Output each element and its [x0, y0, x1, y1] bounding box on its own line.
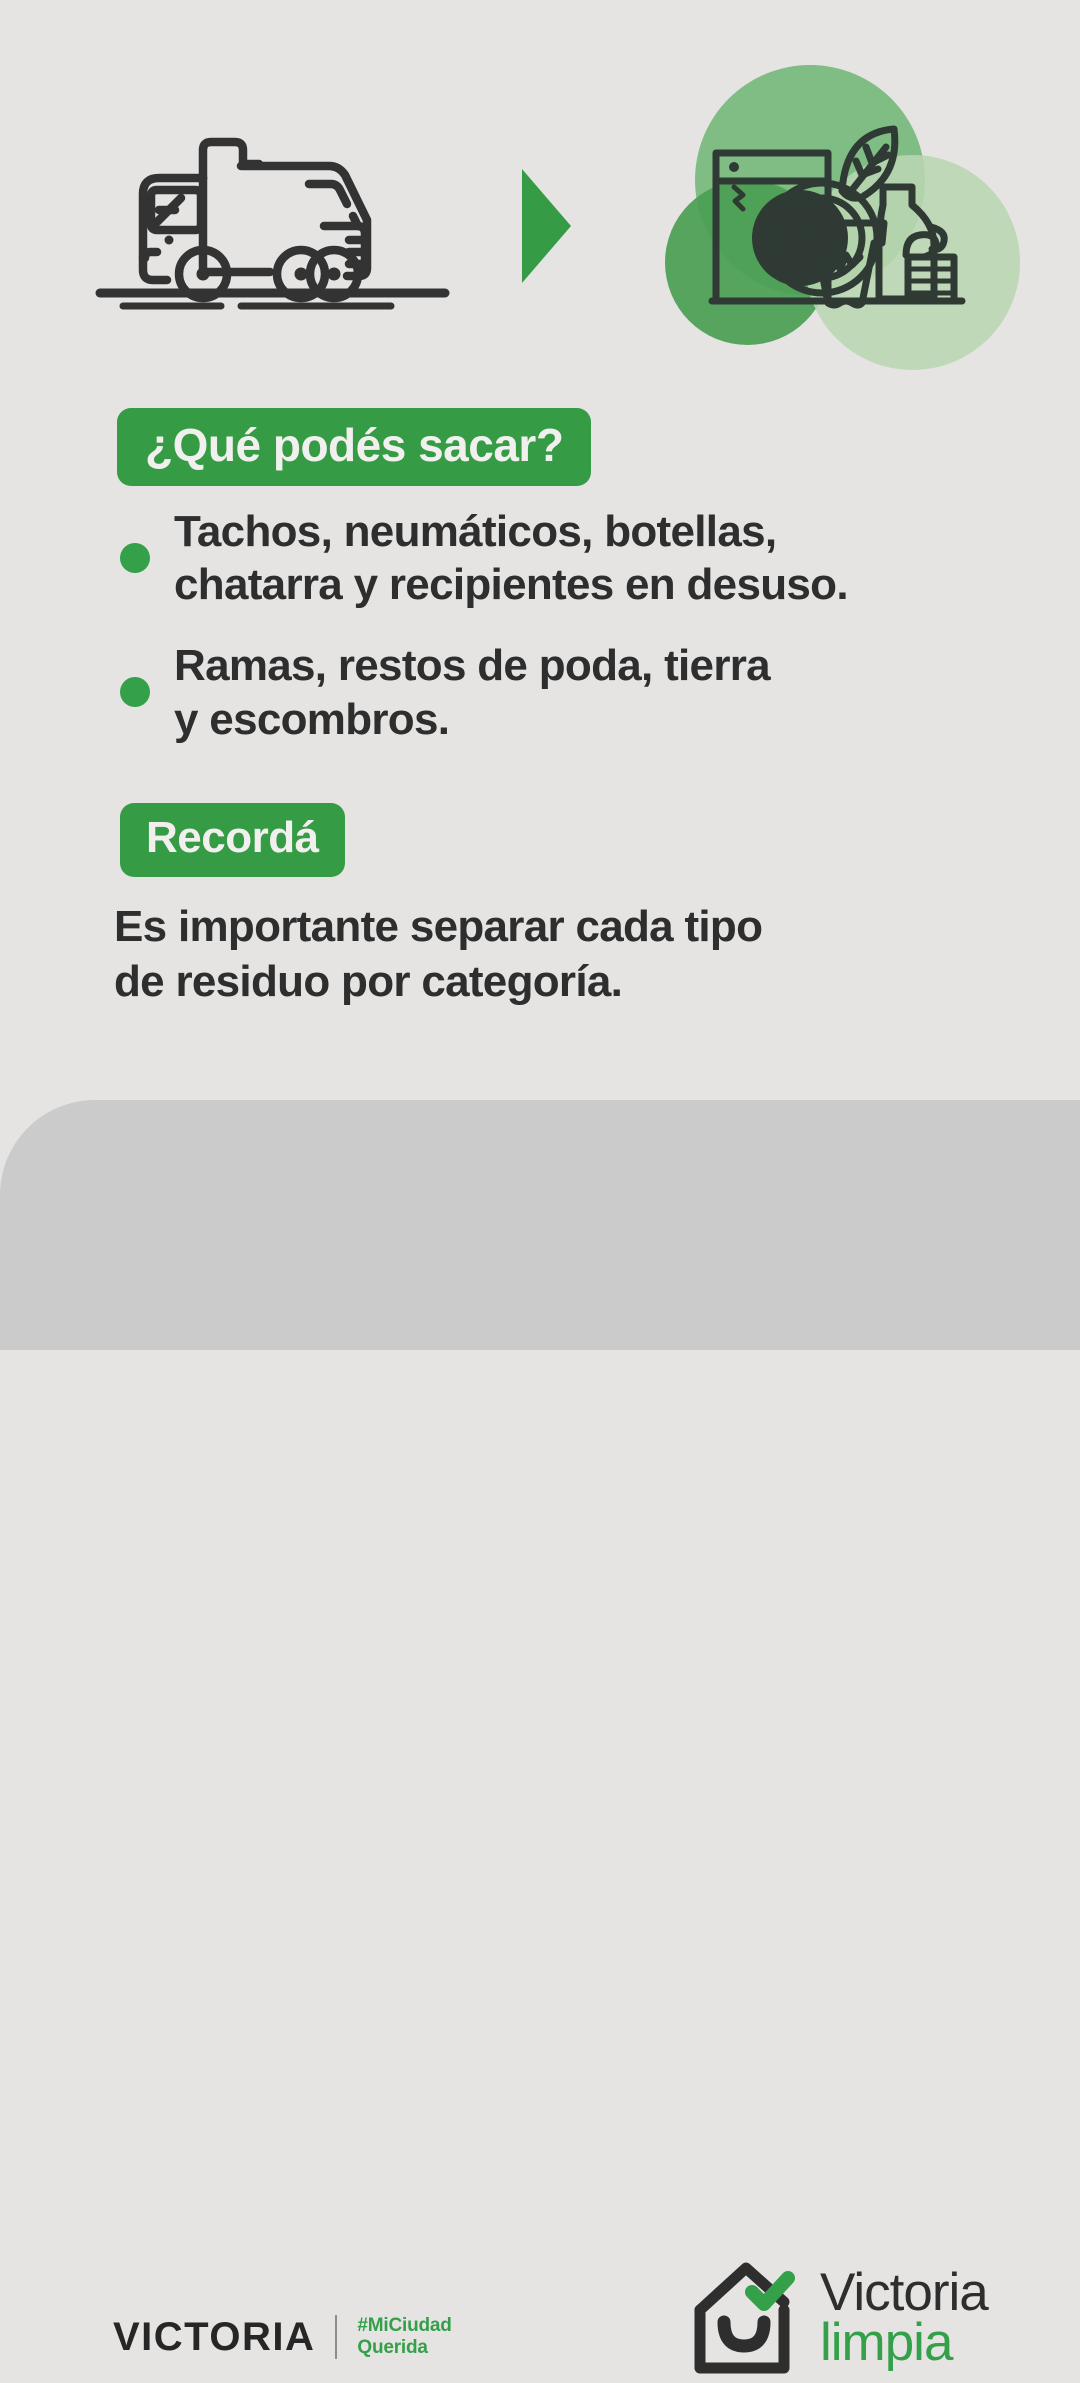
bullet-dot-icon	[120, 543, 150, 573]
list-item-line1: Ramas, restos de poda, tierra	[174, 641, 770, 690]
list-item-line2: chatarra y recipientes en desuso.	[174, 560, 848, 609]
flow-arrow-icon	[519, 166, 574, 286]
victoria-limpia-wordmark: Victoria limpia	[820, 2268, 988, 2368]
campaign-hashtag: #MiCiudad Querida	[357, 2315, 451, 2358]
list-item-text: Tachos, neumáticos, botellas, chatarra y…	[174, 505, 942, 611]
reminder-body-text: Es importante separar cada tipo de resid…	[114, 900, 944, 1009]
list-item: Tachos, neumáticos, botellas, chatarra y…	[112, 505, 942, 611]
list-item-line1: Tachos, neumáticos, botellas,	[174, 507, 776, 556]
reminder-badge: Recordá	[120, 803, 345, 877]
bullet-dot-icon	[120, 677, 150, 707]
bulky-waste-illustration	[650, 55, 1020, 400]
garbage-truck-icon	[95, 128, 450, 313]
municipality-wordmark: VICTORIA	[113, 2317, 315, 2357]
municipality-lockup: VICTORIA #MiCiudad Querida	[113, 2315, 452, 2359]
lockup-divider	[335, 2315, 337, 2359]
hashtag-line2: Querida	[357, 2337, 427, 2358]
list-item-line2: y escombros.	[174, 695, 449, 744]
reminder-line1: Es importante separar cada tipo	[114, 902, 762, 951]
victoria-limpia-lockup: Victoria limpia	[692, 2258, 988, 2378]
brand-line-limpia: limpia	[820, 2318, 988, 2368]
list-item-text: Ramas, restos de poda, tierra y escombro…	[174, 639, 942, 745]
list-item: Ramas, restos de poda, tierra y escombro…	[112, 639, 942, 745]
waste-items-list: Tachos, neumáticos, botellas, chatarra y…	[112, 505, 942, 774]
hashtag-line1: #MiCiudad	[357, 2315, 451, 2336]
brand-line-victoria: Victoria	[820, 2268, 988, 2318]
house-check-smile-logo	[692, 2258, 804, 2378]
question-badge: ¿Qué podés sacar?	[117, 408, 591, 486]
hero-illustration-area	[0, 0, 1080, 400]
footer-panel: VICTORIA #MiCiudad Querida Victoria limp…	[0, 1100, 1080, 1350]
reminder-line2: de residuo por categoría.	[114, 957, 622, 1006]
